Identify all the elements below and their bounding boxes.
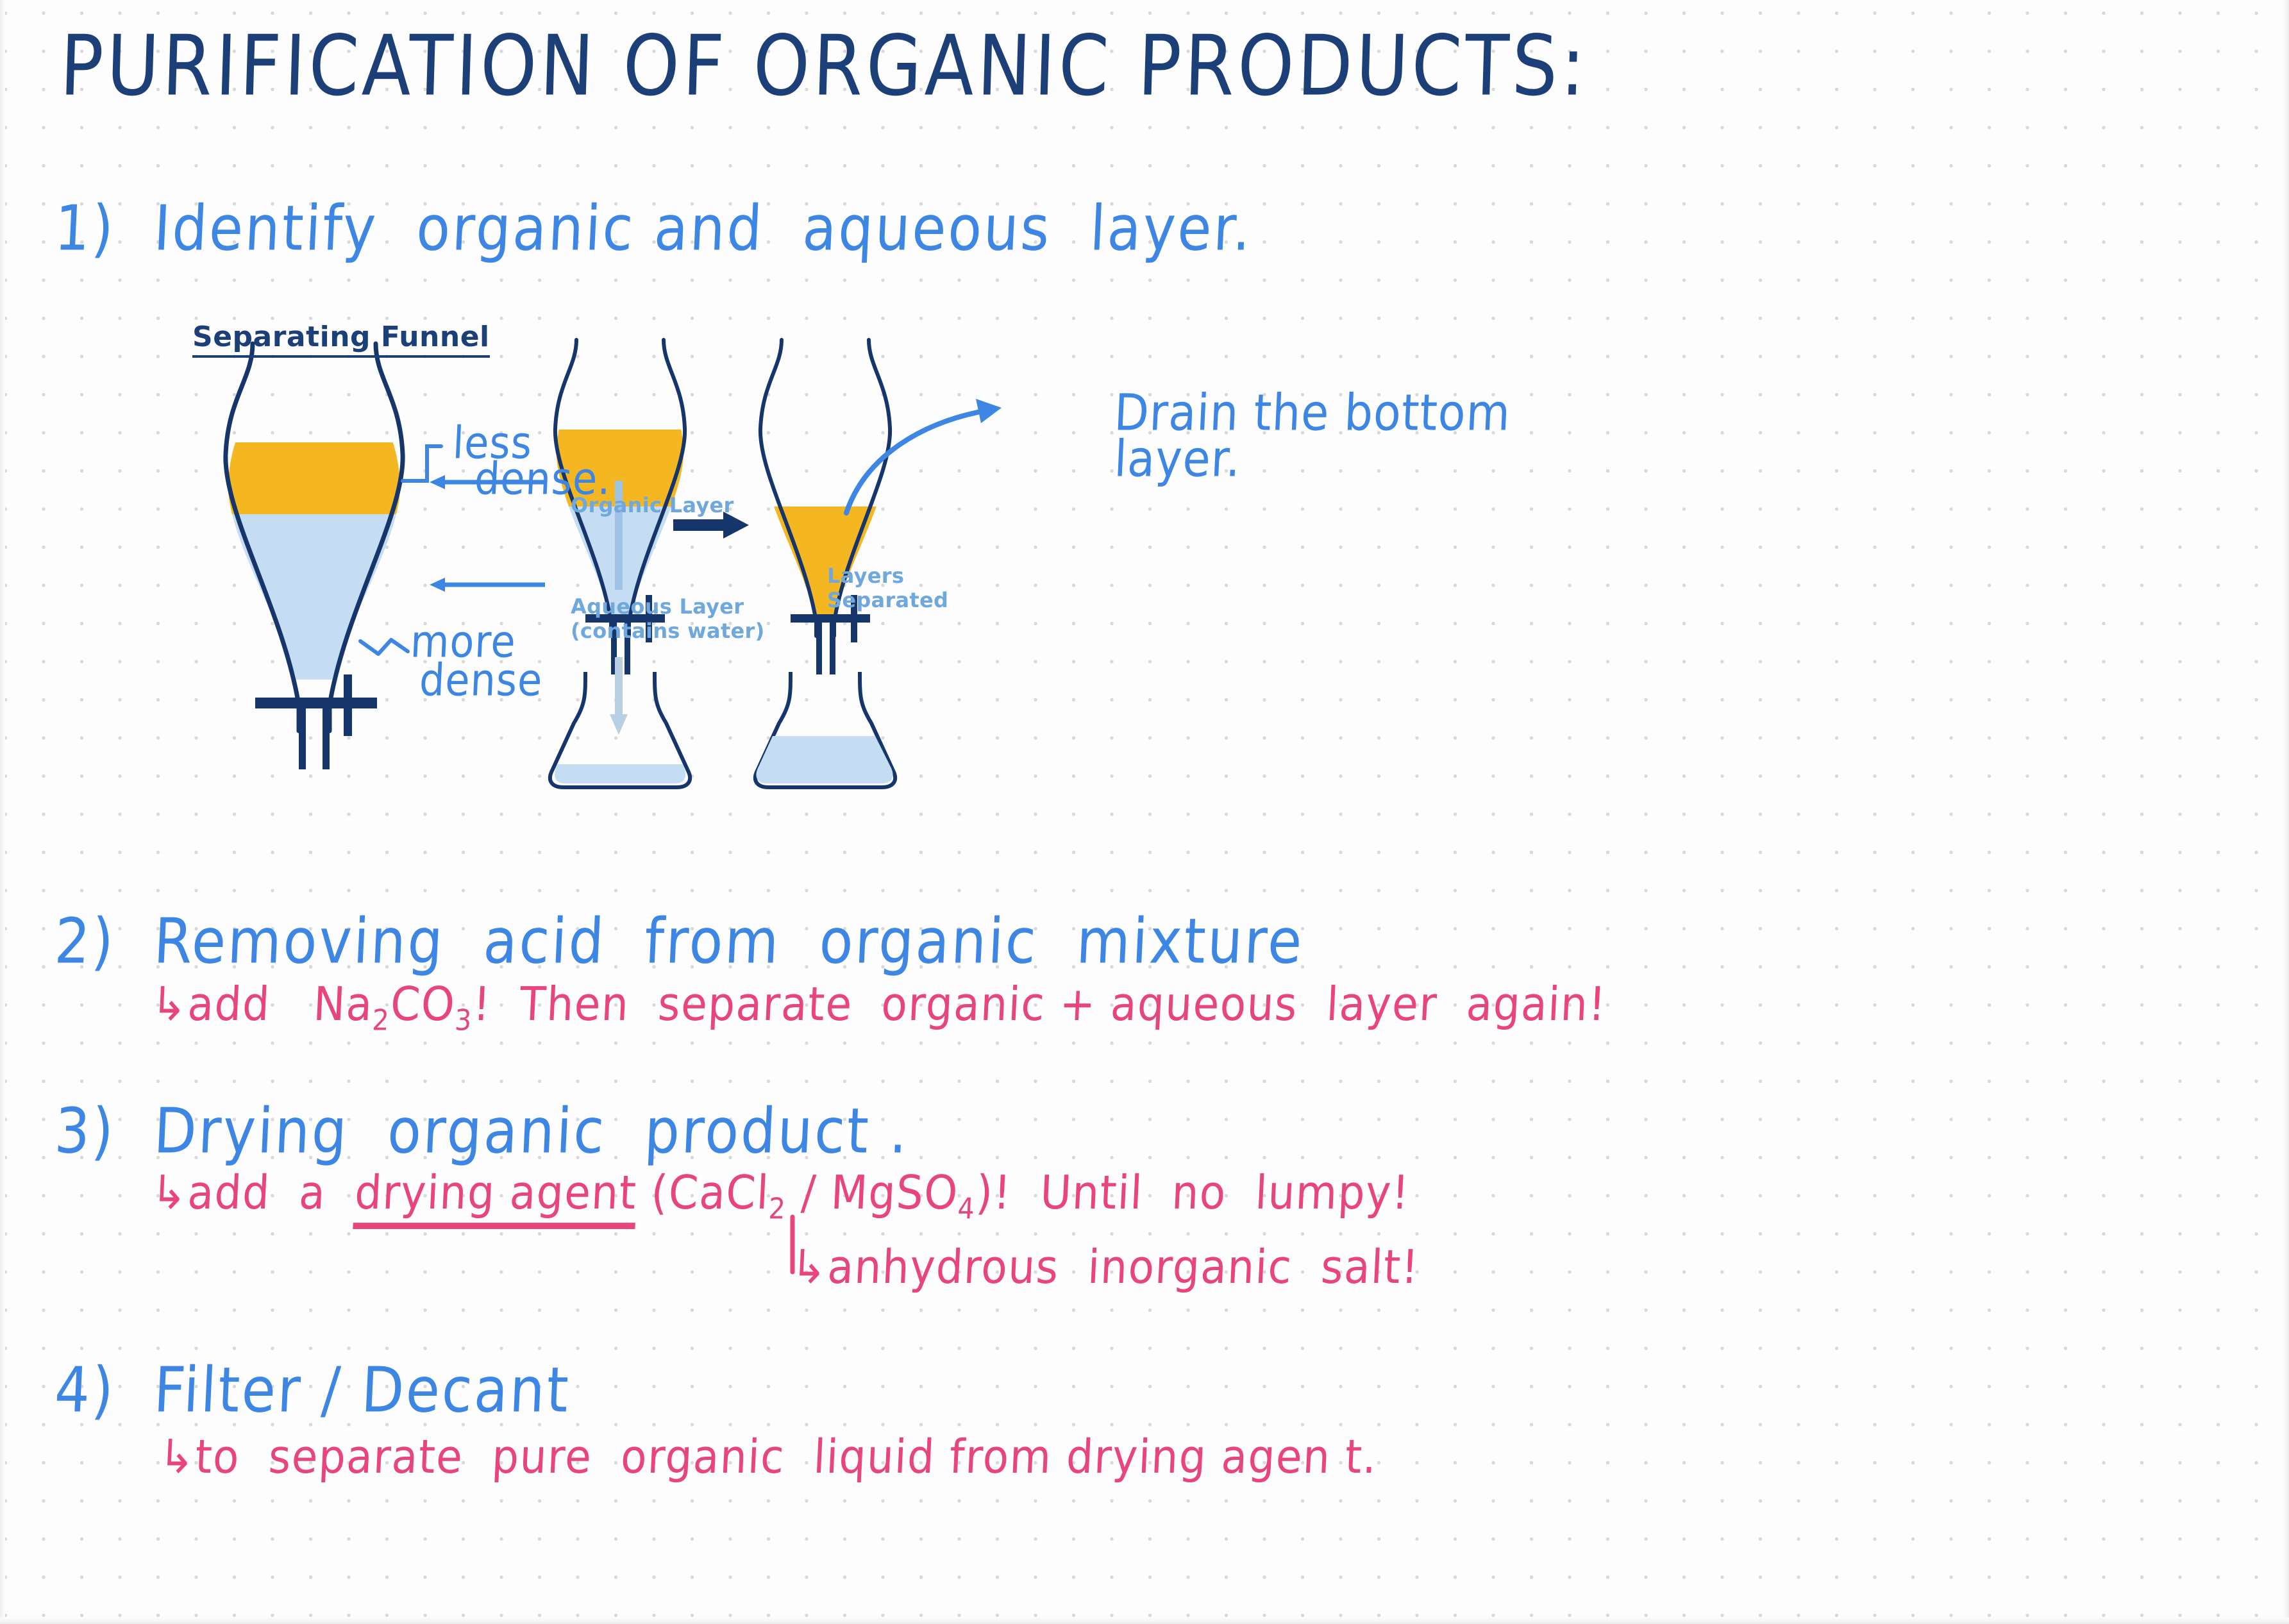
drain-flow-arrowhead bbox=[610, 714, 628, 735]
aqueous-layer-fill bbox=[212, 514, 423, 707]
separating-funnel-diagram: Separating Funnel bbox=[186, 321, 910, 853]
aqueous-layer-sublabel: (contains water) bbox=[571, 619, 765, 643]
page-bottom-edge bbox=[0, 1618, 2289, 1624]
funnel-main bbox=[212, 344, 423, 769]
less-dense-leader bbox=[403, 446, 441, 481]
stopcock-handle bbox=[344, 674, 352, 736]
more-dense-leader bbox=[360, 640, 408, 654]
arrow-glyph: ↳ bbox=[158, 1430, 197, 1484]
funnel-draining bbox=[548, 340, 702, 787]
step-2-heading: 2) Removing acid from organic mixture bbox=[53, 905, 1305, 978]
step-3-heading: 3) Drying organic product . bbox=[53, 1095, 911, 1168]
arrow-glyph: ↳ bbox=[150, 977, 189, 1032]
step-3-note: ↳add a drying agent (CaCl2 / MgSO4)! Unt… bbox=[150, 1166, 1411, 1226]
flask-liquid-2 bbox=[756, 736, 893, 783]
funnel-stem-right bbox=[323, 705, 330, 769]
arrow-glyph: ↳ bbox=[790, 1240, 829, 1294]
flask-liquid-1 bbox=[555, 764, 685, 783]
page-title: PURIFICATION OF ORGANIC PRODUCTS: bbox=[58, 18, 1589, 115]
step-2-note: ↳add Na2CO3! Then separate organic + aqu… bbox=[150, 977, 1608, 1037]
drain-annotation-line2: layer. bbox=[1113, 431, 1243, 487]
organic-layer-fill bbox=[212, 442, 423, 514]
step-1-heading: 1) Identify organic and aqueous layer. bbox=[53, 192, 1254, 265]
more-dense-annotation-line2: dense bbox=[418, 655, 544, 705]
layers-separated-label-line1: Layers bbox=[827, 564, 904, 588]
step-3-subnote: ↳anhydrous inorganic salt! bbox=[790, 1240, 1420, 1294]
stopcock-bar bbox=[255, 698, 377, 708]
page-left-edge bbox=[0, 0, 5, 1624]
arrow-glyph: ↳ bbox=[150, 1166, 189, 1220]
less-dense-annotation-line2: dense. bbox=[473, 454, 612, 504]
page-right-edge bbox=[2283, 0, 2289, 1624]
layers-separated-label-line2: Separated bbox=[827, 589, 948, 612]
funnel-illustration-svg bbox=[186, 321, 910, 833]
step-4-heading: 4) Filter / Decant bbox=[53, 1354, 572, 1427]
drying-agent-underlined: drying agent bbox=[353, 1166, 638, 1229]
step-4-note: ↳to separate pure organic liquid from dr… bbox=[158, 1430, 1379, 1484]
aqueous-layer-label: Aqueous Layer bbox=[571, 595, 744, 619]
funnel-stem-left bbox=[299, 705, 306, 769]
diagram-caption: Separating Funnel bbox=[192, 321, 490, 358]
